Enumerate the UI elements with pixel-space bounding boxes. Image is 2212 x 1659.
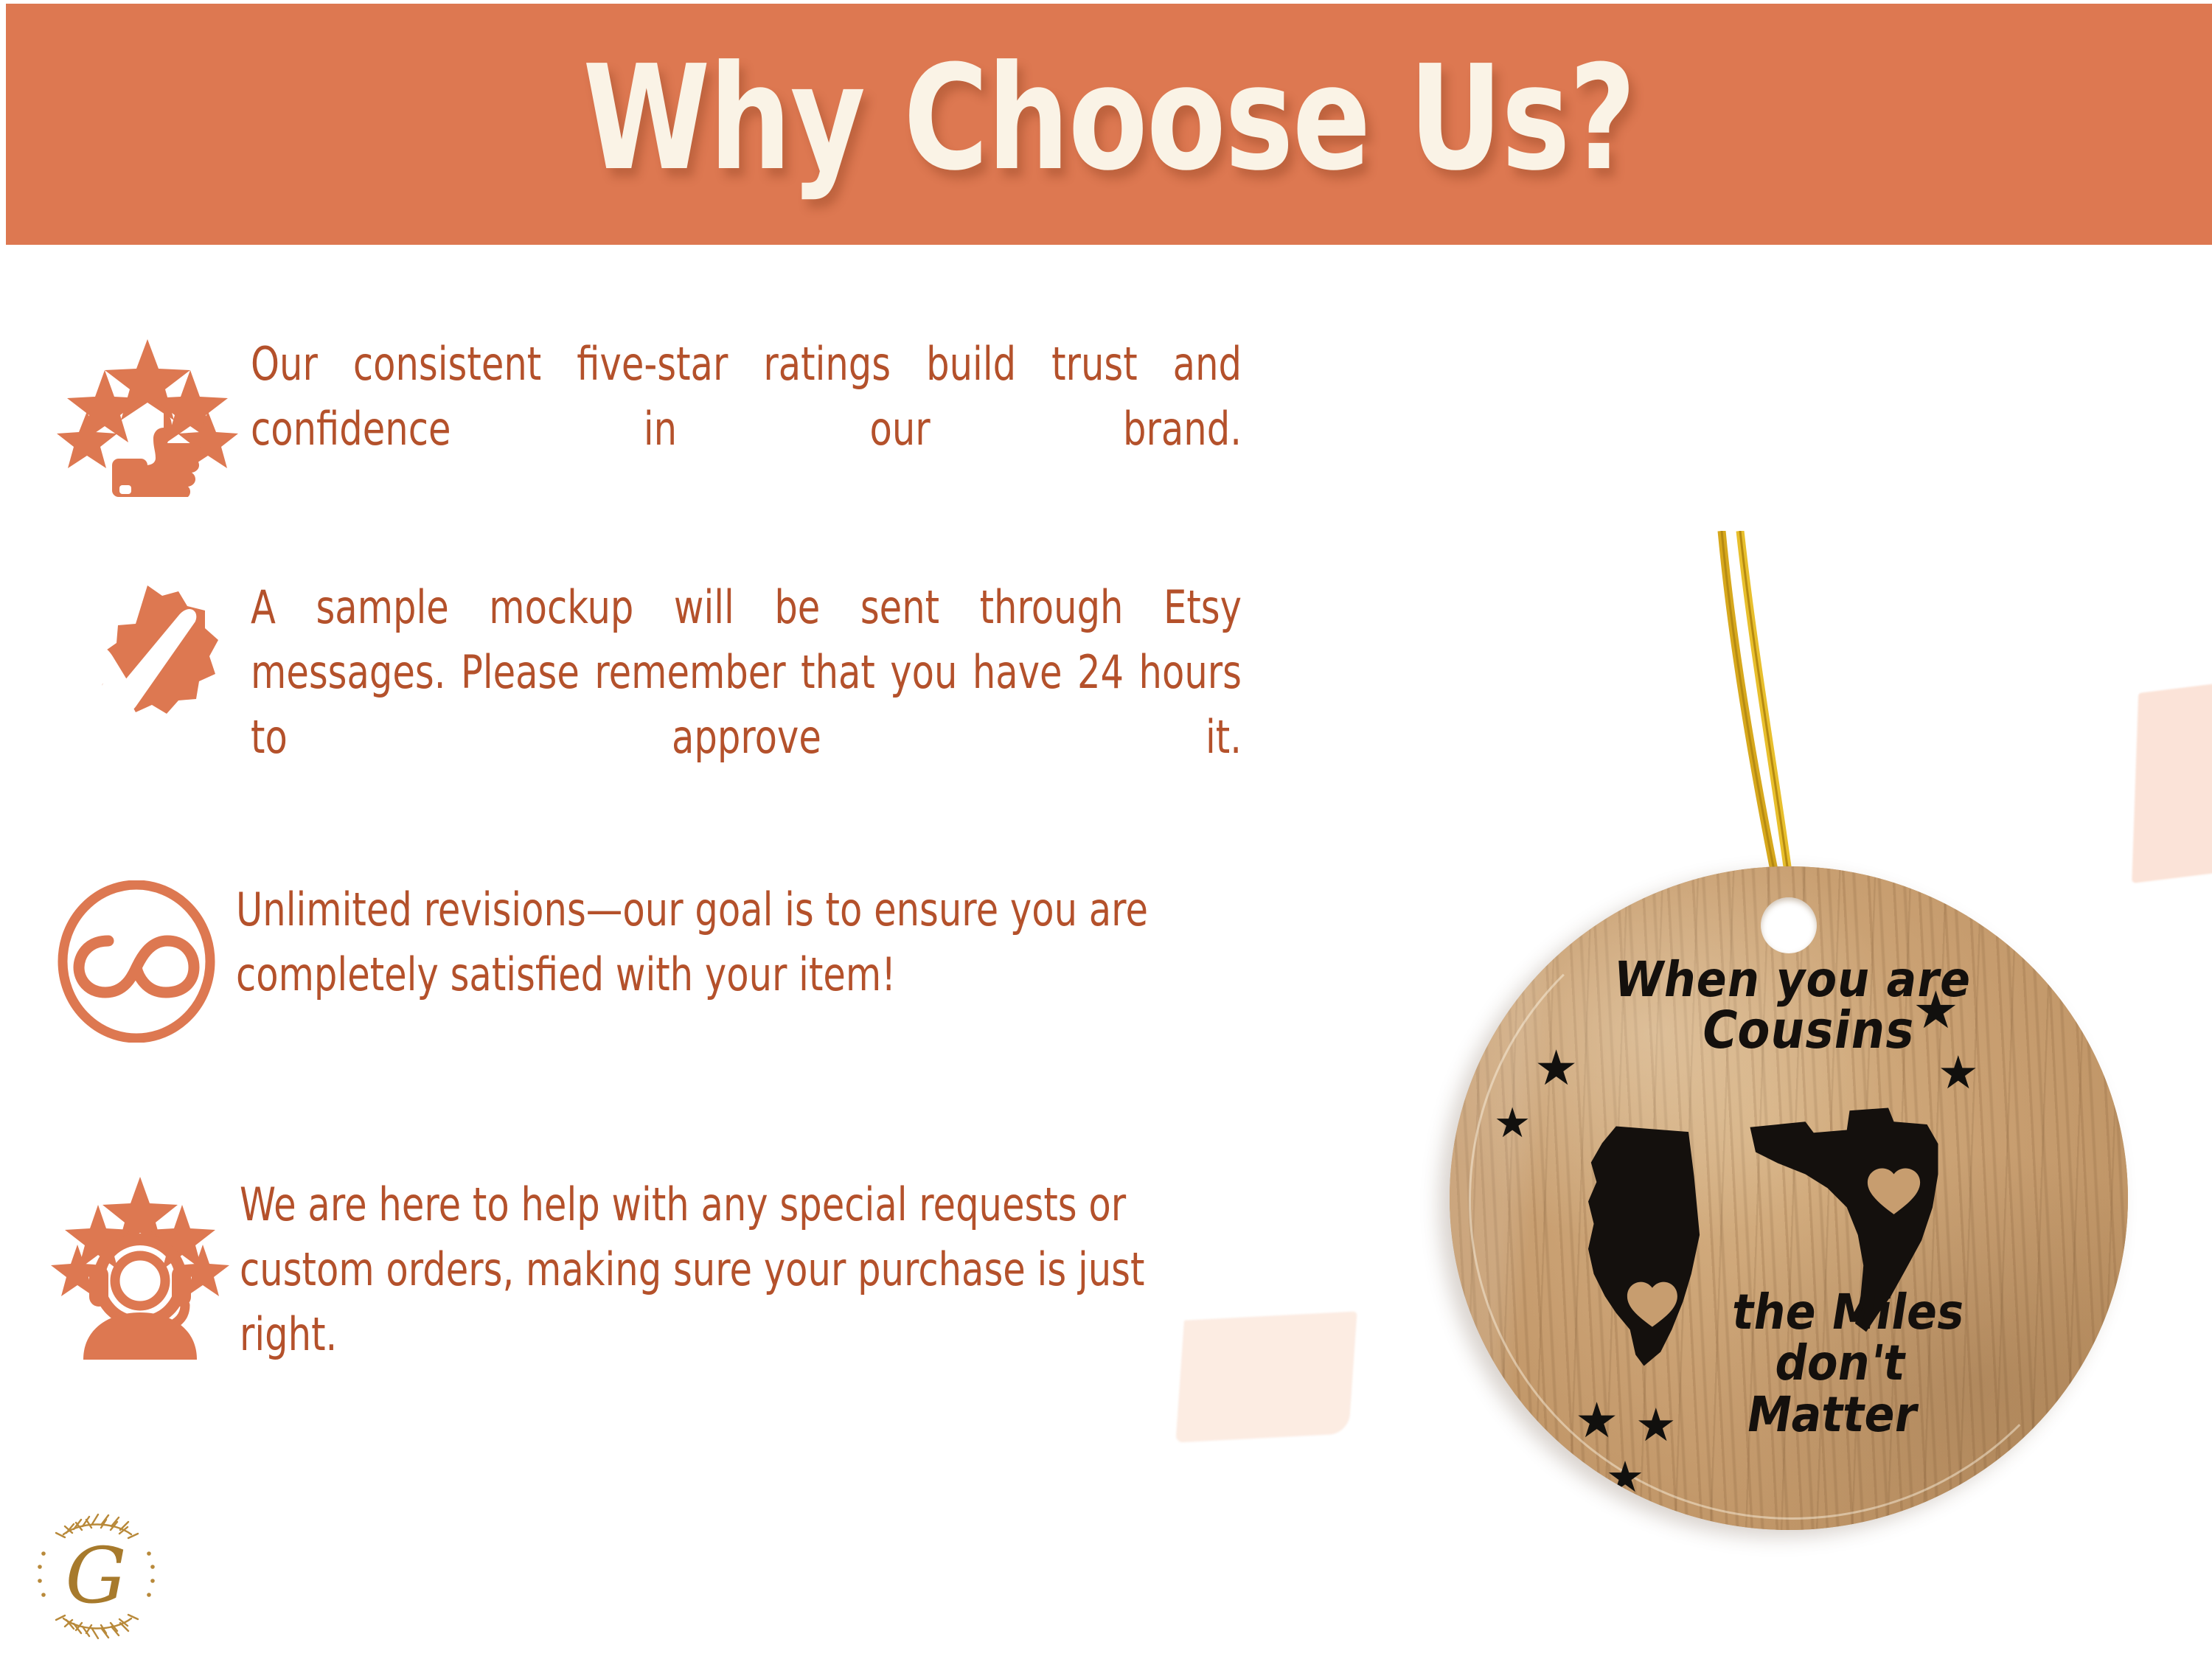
ornament-star-icon: ★ <box>1635 1403 1677 1449</box>
ornament-headline: When you are Cousins <box>1469 955 2109 1057</box>
list-item-label: A sample mockup will be sent through Ets… <box>251 575 1242 835</box>
page-title: Why Choose Us? <box>582 46 1635 203</box>
list-item-label: Our consistent five-star ratings build t… <box>251 332 1242 526</box>
product-ornament-image: ★ ★ ★ ★ ★ ★ ★ When you are Cousins th <box>1423 531 2168 1504</box>
five-star-thumbs-up-icon <box>44 332 251 497</box>
ornament-hanging-hole <box>1761 897 1817 953</box>
brand-logo[interactable]: G <box>28 1508 164 1644</box>
ornament-subline-line3: Matter <box>1686 1389 1978 1440</box>
ornament-subline: the Miles don't Matter <box>1686 1287 1994 1440</box>
list-item: A sample mockup will be sent through Ets… <box>44 575 1489 835</box>
ornament-star-icon: ★ <box>1938 1051 1979 1096</box>
infinity-circle-icon <box>37 877 236 1043</box>
slide-root: Why Choose Us? <box>0 0 2212 1659</box>
list-item: We are here to help with any special req… <box>41 1172 1500 1367</box>
list-item-label: We are here to help with any special req… <box>240 1172 1248 1367</box>
verified-check-badge-icon <box>44 575 251 762</box>
ornament-subline-line2: don't <box>1694 1338 1986 1388</box>
header-banner: Why Choose Us? <box>6 4 2212 245</box>
ornament-subline-line1: the Miles <box>1702 1287 1994 1338</box>
list-item: Our consistent five-star ratings build t… <box>44 332 1489 526</box>
ornament-star-icon: ★ <box>1494 1102 1531 1144</box>
ornament-star-icon: ★ <box>1575 1396 1618 1444</box>
list-item: Unlimited revisions—our goal is to ensur… <box>37 877 1497 1043</box>
customer-support-agent-stars-icon <box>41 1172 240 1360</box>
ornament-headline-line2: Cousins <box>1516 1004 2101 1057</box>
logo-monogram-letter: G <box>65 1531 126 1621</box>
list-item-label: Unlimited revisions—our goal is to ensur… <box>236 877 1245 1007</box>
ornament-star-icon: ★ <box>1606 1456 1644 1499</box>
ornament-disc: ★ ★ ★ ★ ★ ★ ★ When you are Cousins th <box>1450 866 2128 1530</box>
